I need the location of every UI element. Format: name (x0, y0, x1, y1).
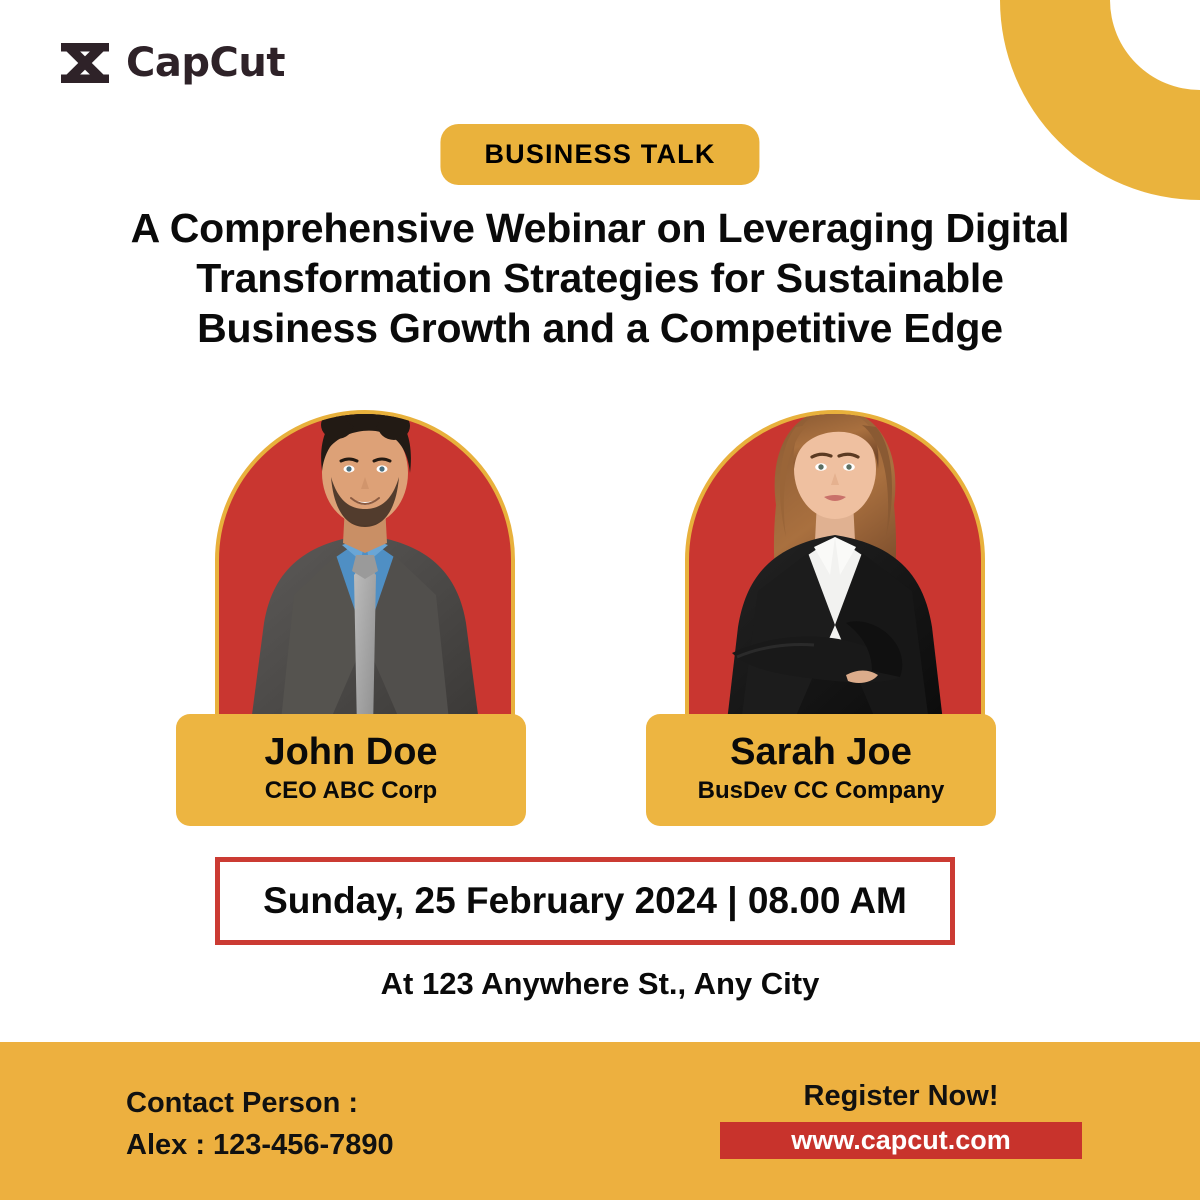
website-url: www.capcut.com (791, 1125, 1011, 1156)
page-title: A Comprehensive Webinar on Leveraging Di… (60, 203, 1140, 353)
business-talk-badge: BUSINESS TALK (440, 124, 759, 185)
speaker-role: CEO ABC Corp (186, 776, 516, 806)
speaker-name: John Doe (186, 730, 516, 774)
speaker-nameplate: John Doe CEO ABC Corp (176, 714, 526, 826)
headline-line-2: Transformation Strategies for Sustainabl… (60, 253, 1140, 303)
speaker-portrait-sarah-joe (600, 385, 1070, 730)
headline-line-3: Business Growth and a Competitive Edge (60, 303, 1140, 353)
contact-info: Contact Person : Alex : 123-456-7890 (126, 1082, 394, 1166)
capcut-logo[interactable]: CapCut (58, 40, 285, 86)
register-label: Register Now! (720, 1080, 1082, 1113)
speaker-role: BusDev CC Company (656, 776, 986, 806)
capcut-bowtie-icon (58, 40, 112, 86)
event-datetime-box: Sunday, 25 February 2024 | 08.00 AM (215, 857, 955, 945)
speaker-photo-frame (600, 385, 1070, 730)
speaker-card-john-doe: John Doe CEO ABC Corp (130, 385, 600, 835)
event-address: At 123 Anywhere St., Any City (0, 966, 1200, 1002)
website-url-button[interactable]: www.capcut.com (720, 1122, 1082, 1159)
poster-canvas: CapCut BUSINESS TALK A Comprehensive Web… (0, 0, 1200, 1200)
contact-value: Alex : 123-456-7890 (126, 1124, 394, 1166)
contact-label: Contact Person : (126, 1082, 394, 1124)
speaker-portrait-john-doe (130, 385, 600, 730)
badge-label: BUSINESS TALK (484, 139, 715, 169)
speaker-name: Sarah Joe (656, 730, 986, 774)
speaker-photo-frame (130, 385, 600, 730)
speakers-section: John Doe CEO ABC Corp (0, 385, 1200, 835)
decorative-ring-shape (1000, 0, 1200, 200)
headline-line-1: A Comprehensive Webinar on Leveraging Di… (60, 203, 1140, 253)
speaker-nameplate: Sarah Joe BusDev CC Company (646, 714, 996, 826)
capcut-wordmark: CapCut (126, 40, 285, 86)
event-datetime: Sunday, 25 February 2024 | 08.00 AM (263, 880, 907, 922)
speaker-card-sarah-joe: Sarah Joe BusDev CC Company (600, 385, 1070, 835)
